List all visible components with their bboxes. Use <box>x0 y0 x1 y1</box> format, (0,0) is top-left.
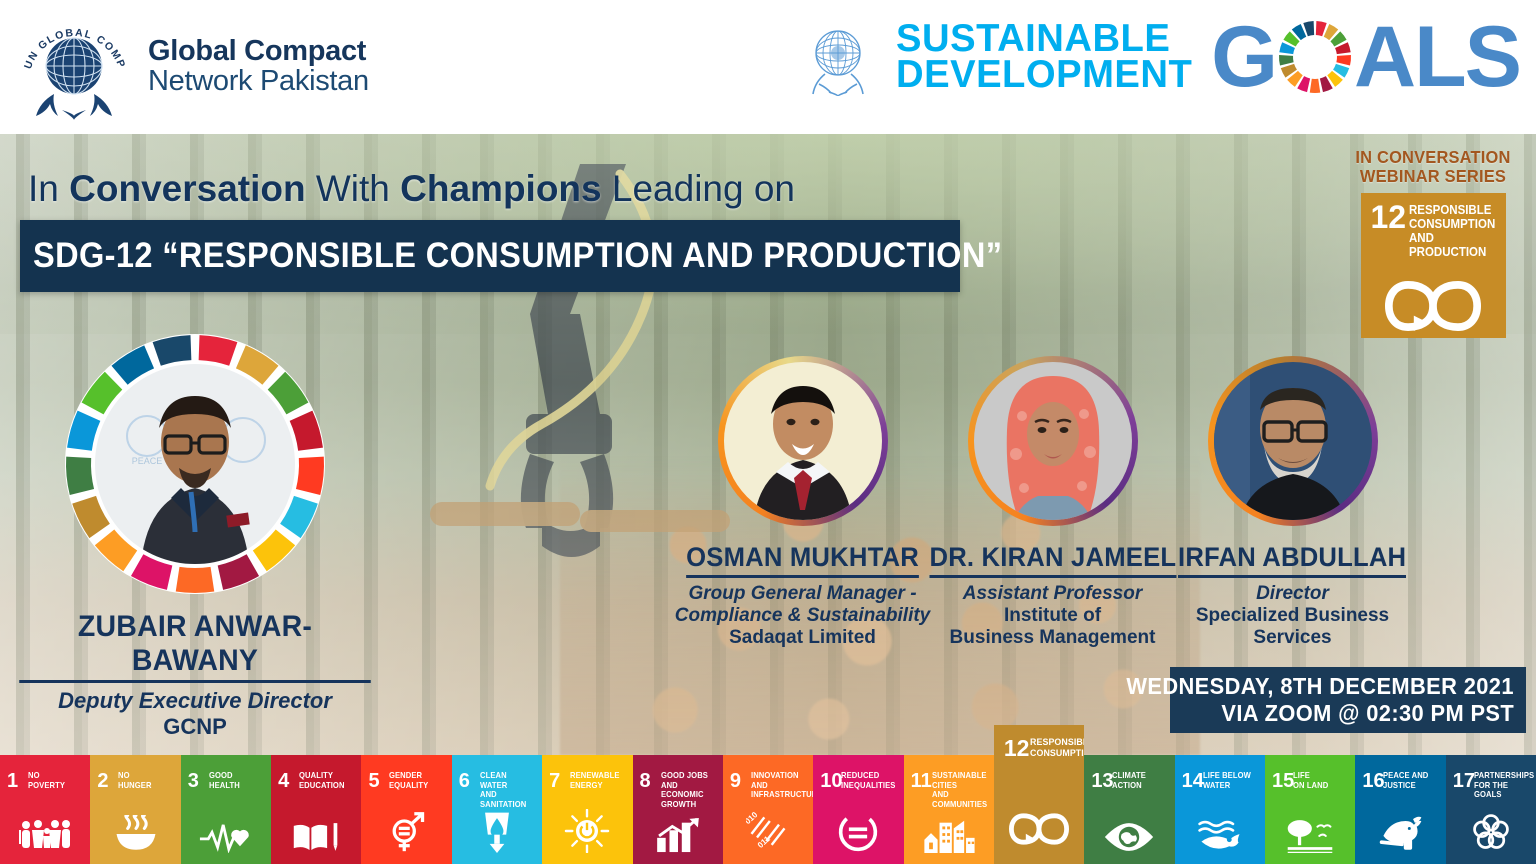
speaker-3-ring <box>968 356 1138 526</box>
sdg-tile-5-label: GENDEREQUALITY <box>389 771 444 790</box>
sdg-tile-2-label: NOHUNGER <box>118 771 173 790</box>
sdg-tile-16[interactable]: 16PEACE ANDJUSTICE <box>1355 755 1445 864</box>
sdg-wordmark: SUSTAINABLE DEVELOPMENT <box>893 21 1195 93</box>
open-book-pencil-icon <box>291 821 341 858</box>
title-word-in: In <box>28 168 69 209</box>
title-word-champions: Champions <box>400 168 612 209</box>
sdg-tile-5-number: 5 <box>368 771 379 791</box>
binary-blocks-icon: 010011 <box>746 811 790 858</box>
sdg-tile-15-number: 15 <box>1272 771 1294 791</box>
sdg12-badge-label: RESPONSIBLE CONSUMPTION AND PRODUCTION <box>1409 203 1493 259</box>
sdg-tile-11-label: SUSTAINABLE CITIESAND COMMUNITIES <box>932 771 987 810</box>
sdg-tile-17-label: PARTNERSHIPSFOR THE GOALS <box>1474 771 1529 800</box>
sdg-tile-12-number: 12 <box>1004 737 1030 760</box>
interlocked-circles-icon <box>1469 811 1513 858</box>
title-word-conversation: Conversation <box>69 168 316 209</box>
sdg-tile-12-label: RESPONSIBLECONSUMPTION <box>1030 737 1078 759</box>
page-header: UN GLOBAL COMPACT Global <box>0 0 1536 134</box>
sdg-tile-11[interactable]: 11SUSTAINABLE CITIESAND COMMUNITIES <box>904 755 994 864</box>
speaker-1-name: ZUBAIR ANWAR-BAWANY <box>19 610 371 683</box>
sdg-tile-10[interactable]: 10REDUCEDINEQUALITIES <box>813 755 903 864</box>
sdg12-label-line1: RESPONSIBLE <box>1409 203 1493 217</box>
family-group-icon <box>18 819 72 858</box>
speaker-2-org: Sadaqat Limited <box>655 627 950 649</box>
sdg-tile-7-label: RENEWABLEENERGY <box>570 771 625 790</box>
portrait-speaker-1: PEACE <box>95 364 295 564</box>
sdg-tile-6[interactable]: 6CLEAN WATERAND SANITATION <box>452 755 542 864</box>
sdg-tile-15-label: LIFEON LAND <box>1293 771 1348 790</box>
un-global-compact-globe-icon: UN GLOBAL COMPACT <box>14 10 134 122</box>
speaker-3-name: DR. KIRAN JAMEEL <box>929 542 1176 578</box>
sdg-tile-1-label: NOPOVERTY <box>28 771 83 790</box>
water-glass-drop-icon <box>480 809 514 858</box>
event-date-bar: WEDNESDAY, 8TH DECEMBER 2021 VIA ZOOM @ … <box>1170 667 1526 733</box>
gender-equals-icon <box>385 811 429 858</box>
event-platform-time: VIA ZOOM @ 02:30 PM PST <box>1221 700 1514 727</box>
speaker-card-4: IRFAN ABDULLAH Director Specialized Busi… <box>1165 356 1420 649</box>
fish-waves-icon <box>1194 819 1246 858</box>
sdg-tile-10-number: 10 <box>820 771 842 791</box>
infinity-loop-icon <box>1385 281 1481 336</box>
sdg-goals-strip: 1NOPOVERTY 2NOHUNGER 3GOODHEALTH 4QUALIT… <box>0 755 1536 864</box>
dove-gavel-icon <box>1376 815 1426 858</box>
sdg-tile-14-label: LIFE BELOWWATER <box>1203 771 1258 790</box>
portrait-speaker-2 <box>724 362 882 520</box>
svg-text:010: 010 <box>746 811 760 826</box>
sdg12-label-line2: CONSUMPTION <box>1409 217 1493 231</box>
gcnp-line1: Global Compact <box>148 36 369 66</box>
gcnp-line2: Network Pakistan <box>148 66 369 96</box>
speaker-2-role-line2: Compliance & Sustainability <box>655 605 950 627</box>
sdg-tile-6-number: 6 <box>459 771 470 791</box>
sdg-tile-1-number: 1 <box>7 771 18 791</box>
speaker-card-2: OSMAN MUKHTAR Group General Manager - Co… <box>655 356 950 649</box>
sdg-tile-3-number: 3 <box>188 771 199 791</box>
speaker-1-ring: PEACE <box>65 334 325 594</box>
sdg-tile-1[interactable]: 1NOPOVERTY <box>0 755 90 864</box>
speaker-card-3: DR. KIRAN JAMEEL Assistant Professor Ins… <box>920 356 1185 649</box>
sdg-tile-2[interactable]: 2NOHUNGER <box>90 755 180 864</box>
sdg-tile-9-number: 9 <box>730 771 741 791</box>
un-emblem-icon <box>799 18 877 96</box>
sdg-brand-logo: SUSTAINABLE DEVELOPMENT G ALS <box>799 14 1520 100</box>
gcnp-wordmark: Global Compact Network Pakistan <box>148 36 369 97</box>
speaker-3-role: Assistant Professor <box>920 583 1185 605</box>
sdg-tile-5[interactable]: 5GENDEREQUALITY <box>361 755 451 864</box>
city-buildings-icon <box>922 817 976 858</box>
eye-globe-icon <box>1103 821 1155 858</box>
speaker-1-org: GCNP <box>10 714 380 740</box>
sdg-tile-11-number: 11 <box>911 771 932 791</box>
sdg-tile-14-number: 14 <box>1182 771 1204 791</box>
sdg-tile-10-label: REDUCEDINEQUALITIES <box>841 771 896 790</box>
title-word-leading-on: Leading on <box>612 168 795 209</box>
tree-birds-icon <box>1284 817 1336 858</box>
sdg-tile-13[interactable]: 13CLIMATEACTION <box>1084 755 1174 864</box>
speaker-2-role-line1: Group General Manager - <box>655 583 950 605</box>
poster-title-line: In Conversation With Champions Leading o… <box>28 168 795 210</box>
series-title: IN CONVERSATION WEBINAR SERIES <box>1346 148 1521 185</box>
sdg-color-wheel-icon <box>1278 20 1352 94</box>
sdg-tile-9[interactable]: 9INNOVATION ANDINFRASTRUCTURE 010011 <box>723 755 813 864</box>
sdg12-badge: 12 RESPONSIBLE CONSUMPTION AND PRODUCTIO… <box>1361 193 1506 338</box>
sdg-tile-17-number: 17 <box>1453 771 1475 791</box>
poster-subtitle-text: SDG-12 “RESPONSIBLE CONSUMPTION AND PROD… <box>20 236 1002 276</box>
speaker-4-org-line1: Specialized Business <box>1165 605 1420 627</box>
sdg-tile-8-label: GOOD JOBS ANDECONOMIC GROWTH <box>661 771 716 810</box>
svg-text:PEACE: PEACE <box>132 456 163 466</box>
speaker-3-org-line2: Business Management <box>920 627 1185 649</box>
sdg-tile-8-number: 8 <box>640 771 651 791</box>
series-line1: IN CONVERSATION <box>1346 148 1521 167</box>
portrait-speaker-4 <box>1214 362 1372 520</box>
sdg-tile-13-label: CLIMATEACTION <box>1112 771 1167 790</box>
sdg-word-development: DEVELOPMENT <box>896 57 1192 93</box>
series-line2: WEBINAR SERIES <box>1346 167 1521 186</box>
goals-wordmark: G ALS <box>1211 14 1520 100</box>
steaming-bowl-icon <box>111 815 161 858</box>
sdg-tile-7[interactable]: 7RENEWABLEENERGY <box>542 755 632 864</box>
sdg-tile-17[interactable]: 17PARTNERSHIPSFOR THE GOALS <box>1446 755 1536 864</box>
heartbeat-line-icon <box>199 821 253 858</box>
growth-bars-arrow-icon <box>655 817 701 858</box>
gcnp-logo: UN GLOBAL COMPACT Global <box>14 10 369 122</box>
sdg-tile-8[interactable]: 8GOOD JOBS ANDECONOMIC GROWTH <box>633 755 723 864</box>
sdg-tile-13-number: 13 <box>1091 771 1113 791</box>
speaker-card-1: PEACE ZUBAIR ANWAR-BAWANY Deputy Executi… <box>10 334 380 740</box>
sdg-tile-6-label: CLEAN WATERAND SANITATION <box>480 771 535 810</box>
goals-letters-als: ALS <box>1354 14 1520 100</box>
sun-power-icon <box>564 809 610 858</box>
speaker-4-name: IRFAN ABDULLAH <box>1178 542 1406 578</box>
speaker-3-org-line1: Institute of <box>920 605 1185 627</box>
sdg-tile-9-label: INNOVATION ANDINFRASTRUCTURE <box>751 771 806 800</box>
speaker-2-ring <box>718 356 888 526</box>
sdg-word-sustainable: SUSTAINABLE <box>896 21 1192 57</box>
speaker-2-name: OSMAN MUKHTAR <box>686 542 919 578</box>
sdg12-label-line3: AND PRODUCTION <box>1409 231 1493 259</box>
goals-letter-g: G <box>1211 14 1276 100</box>
sdg-tile-14[interactable]: 14LIFE BELOWWATER <box>1175 755 1265 864</box>
sdg-tile-7-number: 7 <box>549 771 560 791</box>
sdg-tile-3[interactable]: 3GOODHEALTH <box>181 755 271 864</box>
sdg-tile-2-number: 2 <box>97 771 108 791</box>
equals-circle-icon <box>836 811 880 858</box>
speaker-4-ring <box>1208 356 1378 526</box>
speaker-1-role: Deputy Executive Director <box>10 688 380 714</box>
sdg12-badge-number: 12 <box>1371 201 1407 233</box>
sdg-tile-4-number: 4 <box>278 771 289 791</box>
poster-stage: In Conversation With Champions Leading o… <box>0 134 1536 755</box>
sdg-tile-3-label: GOODHEALTH <box>209 771 264 790</box>
portrait-speaker-3 <box>974 362 1132 520</box>
sdg-tile-4[interactable]: 4QUALITYEDUCATION <box>271 755 361 864</box>
webinar-series-block: IN CONVERSATION WEBINAR SERIES 12 RESPON… <box>1340 148 1526 338</box>
title-word-with: With <box>316 168 400 209</box>
event-date: WEDNESDAY, 8TH DECEMBER 2021 <box>1127 673 1514 700</box>
infinity-loop-icon <box>1009 813 1069 850</box>
sdg-tile-16-label: PEACE ANDJUSTICE <box>1383 771 1438 790</box>
sdg-tile-15[interactable]: 15LIFEON LAND <box>1265 755 1355 864</box>
speaker-4-org-line2: Services <box>1165 627 1420 649</box>
poster-subtitle-bar: SDG-12 “RESPONSIBLE CONSUMPTION AND PROD… <box>20 220 960 292</box>
sdg-tile-16-number: 16 <box>1362 771 1384 791</box>
sdg-tile-4-label: QUALITYEDUCATION <box>299 771 354 790</box>
sdg-tile-12[interactable]: 12RESPONSIBLECONSUMPTION <box>994 725 1084 864</box>
speaker-4-role: Director <box>1165 583 1420 605</box>
